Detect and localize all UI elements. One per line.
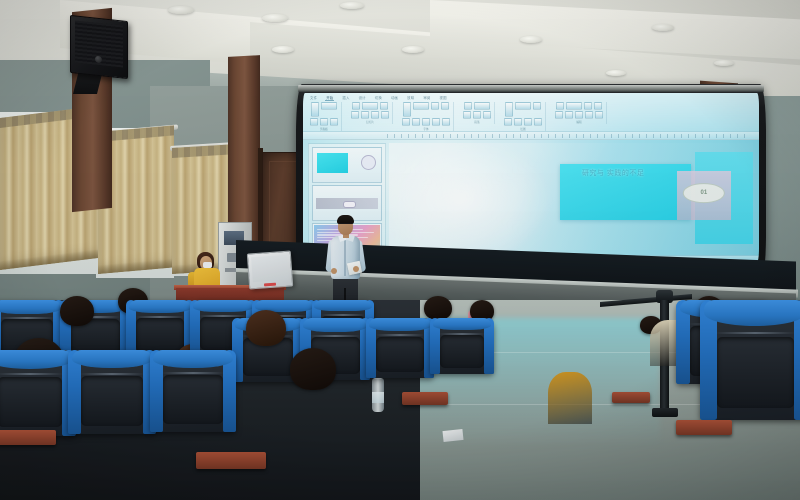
ribbon-tab[interactable]: 插入 bbox=[341, 95, 350, 101]
ribbon-command-icon[interactable] bbox=[402, 118, 410, 126]
slide-canvas[interactable]: 研究与 实践的不足 01 bbox=[389, 143, 753, 250]
seat-cushion bbox=[81, 376, 143, 426]
ribbon-group[interactable]: 绘图 bbox=[501, 102, 546, 131]
ribbon-command-icon[interactable] bbox=[473, 111, 481, 119]
audience-shoulder bbox=[548, 372, 592, 424]
audience-head bbox=[424, 296, 452, 320]
ribbon-group[interactable]: 编辑 bbox=[552, 102, 607, 124]
bottle-label bbox=[372, 392, 384, 403]
seat-headrest bbox=[193, 300, 254, 312]
ribbon-command-icon[interactable] bbox=[403, 102, 411, 117]
seat-cushion bbox=[136, 318, 184, 352]
paper-sheet bbox=[442, 429, 463, 442]
ceiling-light-icon bbox=[272, 46, 294, 53]
ribbon-group[interactable]: 幻灯片 bbox=[348, 102, 393, 124]
ribbon-command-icon[interactable] bbox=[310, 118, 318, 126]
ribbon-command-icon[interactable] bbox=[464, 102, 472, 110]
auditorium-seat[interactable] bbox=[366, 318, 434, 378]
ribbon-command-icon[interactable] bbox=[362, 102, 378, 110]
seat-cushion bbox=[163, 375, 223, 423]
slide-thumbnail[interactable] bbox=[312, 147, 382, 183]
ribbon-command-icon[interactable] bbox=[431, 102, 439, 110]
ribbon-command-icon[interactable] bbox=[505, 102, 513, 117]
ceiling-light-icon bbox=[262, 14, 288, 22]
ribbon-command-icon[interactable] bbox=[474, 102, 490, 110]
screen-top-trim bbox=[298, 85, 764, 92]
ceiling-light-icon bbox=[520, 36, 542, 43]
ribbon-command-icon[interactable] bbox=[524, 118, 532, 126]
ribbon-command-icon[interactable] bbox=[432, 118, 440, 126]
screen-surface: 文件开始插入设计切换动画放映审阅视图 剪贴板幻灯片字体段落绘图编辑 bbox=[303, 93, 759, 262]
ribbon-command-icon[interactable] bbox=[585, 111, 593, 119]
ribbon-command-icon[interactable] bbox=[463, 111, 471, 119]
ribbon-command-icon[interactable] bbox=[371, 111, 379, 119]
seat-headrest bbox=[369, 318, 432, 331]
fold-down-tablet-desk[interactable] bbox=[612, 392, 650, 403]
ribbon-command-icon[interactable] bbox=[330, 118, 338, 126]
ribbon-command-icon[interactable] bbox=[321, 102, 337, 110]
ribbon-command-icon[interactable] bbox=[594, 102, 602, 110]
auditorium-seat[interactable] bbox=[68, 350, 156, 434]
ribbon-command-icon[interactable] bbox=[381, 111, 389, 119]
auditorium-seat[interactable] bbox=[150, 350, 236, 432]
ribbon-tab[interactable]: 动画 bbox=[390, 95, 399, 101]
monitor-logo bbox=[264, 283, 276, 287]
ceiling-light-icon bbox=[340, 2, 364, 9]
seat-crease bbox=[376, 334, 425, 336]
ribbon-command-icon[interactable] bbox=[413, 102, 429, 110]
ribbon-command-icon[interactable] bbox=[361, 111, 369, 119]
ribbon-command-icon[interactable] bbox=[412, 118, 420, 126]
auditorium-seat[interactable] bbox=[0, 350, 76, 436]
ribbon-command-icon[interactable] bbox=[515, 102, 531, 110]
ribbon-group[interactable]: 段落 bbox=[460, 102, 495, 124]
ribbon-group-label: 编辑 bbox=[576, 120, 581, 124]
seat-cushion bbox=[376, 337, 424, 372]
ribbon-command-icon[interactable] bbox=[351, 111, 359, 119]
slide-body-text: 研究与 实践的不足 bbox=[582, 169, 691, 179]
ribbon-command-icon[interactable] bbox=[311, 102, 319, 117]
slide-badge: 01 bbox=[683, 184, 725, 204]
lecture-hall-photo: 文件开始插入设计切换动画放映审阅视图 剪贴板幻灯片字体段落绘图编辑 bbox=[0, 0, 800, 500]
ribbon-tab[interactable]: 设计 bbox=[358, 95, 367, 101]
seat-headrest bbox=[129, 300, 192, 313]
ribbon-command-icon[interactable] bbox=[533, 102, 541, 110]
audience-head bbox=[246, 310, 286, 346]
loudspeaker-icon bbox=[70, 15, 128, 79]
fold-down-tablet-desk[interactable] bbox=[0, 430, 56, 445]
ribbon-command-icon[interactable] bbox=[442, 118, 450, 126]
seat-crease bbox=[80, 373, 143, 375]
ribbon-tab[interactable]: 审阅 bbox=[422, 95, 431, 101]
ribbon-tab[interactable]: 文件 bbox=[309, 95, 318, 101]
ribbon-group-label: 幻灯片 bbox=[366, 120, 374, 124]
control-desk-monitor[interactable] bbox=[247, 251, 293, 290]
ribbon-command-icon[interactable] bbox=[441, 102, 449, 110]
fold-down-tablet-desk[interactable] bbox=[676, 420, 732, 435]
presenter-hand bbox=[331, 268, 337, 274]
slide-card[interactable]: 01 bbox=[677, 171, 732, 220]
monitor-screen bbox=[251, 255, 289, 282]
seat-headrest bbox=[314, 300, 371, 311]
seat-headrest bbox=[153, 350, 232, 368]
seat-headrest bbox=[303, 318, 367, 332]
audience-head bbox=[60, 296, 94, 326]
ribbon-tab[interactable]: 视图 bbox=[439, 95, 448, 101]
ribbon-command-icon[interactable] bbox=[380, 102, 388, 110]
ruler bbox=[303, 131, 759, 139]
ribbon-command-icon[interactable] bbox=[422, 118, 430, 126]
ceiling-light-icon bbox=[606, 70, 626, 76]
ribbon-group-label: 段落 bbox=[474, 120, 479, 124]
ribbon-command-icon[interactable] bbox=[352, 102, 360, 110]
ribbon-command-icon[interactable] bbox=[595, 111, 603, 119]
glasses-icon bbox=[339, 223, 352, 227]
ribbon-command-icon[interactable] bbox=[320, 118, 328, 126]
seat-cushion bbox=[0, 377, 62, 428]
presenter-hand bbox=[353, 266, 359, 272]
ribbon-command-icon[interactable] bbox=[555, 111, 563, 119]
ribbon-command-icon[interactable] bbox=[584, 102, 592, 110]
ribbon-command-icon[interactable] bbox=[566, 102, 582, 110]
fold-down-tablet-desk[interactable] bbox=[196, 452, 266, 469]
seat-cushion bbox=[440, 335, 485, 368]
ceiling-light-icon bbox=[652, 24, 674, 31]
ceiling-light-icon bbox=[168, 6, 194, 14]
ribbon-command-icon[interactable] bbox=[514, 118, 522, 126]
ribbon-group-bar[interactable]: 剪贴板幻灯片字体段落绘图编辑 bbox=[307, 102, 755, 128]
audience-head bbox=[290, 348, 336, 390]
ribbon-tab[interactable]: 切换 bbox=[374, 95, 383, 101]
ribbon-group[interactable]: 剪贴板 bbox=[307, 102, 342, 131]
ribbon-command-icon[interactable] bbox=[534, 118, 542, 126]
ribbon-tab[interactable]: 开始 bbox=[325, 95, 334, 101]
ribbon-command-icon[interactable] bbox=[504, 118, 512, 126]
auditorium-seat[interactable] bbox=[700, 300, 800, 420]
ceiling-light-icon bbox=[714, 60, 734, 66]
ribbon-group[interactable]: 字体 bbox=[399, 102, 454, 131]
seat-headrest bbox=[0, 300, 61, 314]
ribbon-command-icon[interactable] bbox=[575, 111, 583, 119]
projector-glare bbox=[389, 143, 556, 250]
ribbon-command-icon[interactable] bbox=[556, 102, 564, 110]
seat-cushion bbox=[717, 337, 794, 408]
rail-base bbox=[652, 408, 678, 417]
ribbon-command-icon[interactable] bbox=[565, 111, 573, 119]
seat-crease bbox=[0, 373, 63, 375]
ribbon-tab[interactable]: 放映 bbox=[406, 95, 415, 101]
ribbon-command-icon[interactable] bbox=[483, 111, 491, 119]
ribbon-tab-bar[interactable]: 文件开始插入设计切换动画放映审阅视图 bbox=[309, 95, 448, 101]
auditorium-seat[interactable] bbox=[430, 318, 494, 374]
seat-headrest bbox=[433, 318, 492, 330]
seat-crease bbox=[162, 372, 224, 374]
presenter-shirt-placket bbox=[344, 238, 346, 276]
ceiling-light-icon bbox=[402, 46, 424, 53]
fold-down-tablet-desk[interactable] bbox=[402, 392, 448, 405]
